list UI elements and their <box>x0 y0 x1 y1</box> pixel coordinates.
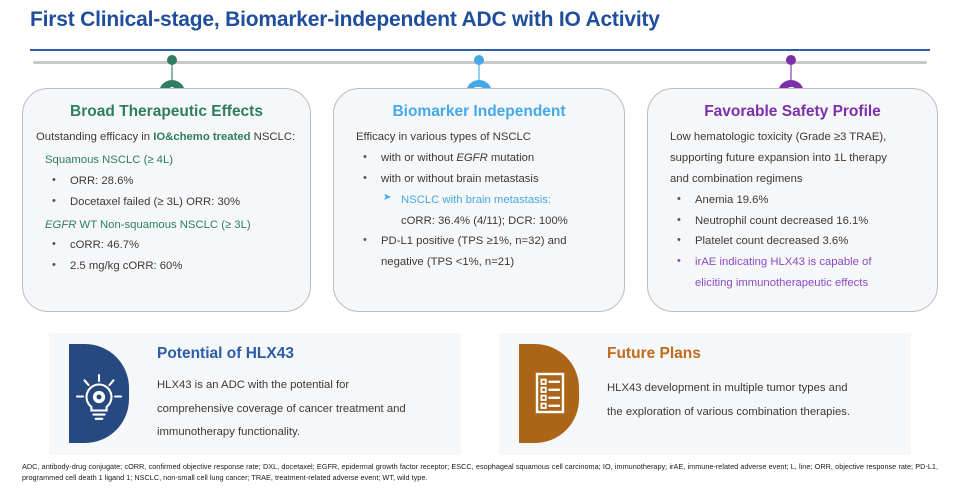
card-a-group2-head: EGFR WT Non-squamous NSCLC (≥ 3L) <box>36 215 297 236</box>
page-title: First Clinical-stage, Biomarker-independ… <box>30 8 930 32</box>
panel-1-text: HLX43 is an ADC with the potential for c… <box>157 374 447 445</box>
card-biomarker-independent[interactable]: Biomarker Independent Efficacy in variou… <box>333 88 625 312</box>
card-b-list2: •PD-L1 positive (TPS ≥1%, n=32) and <box>347 231 611 252</box>
card-a-group1-list: •ORR: 28.6% •Docetaxel failed (≥ 3L) ORR… <box>36 171 297 213</box>
bullet-dot-icon: • <box>52 191 56 211</box>
lightbulb-gear-glyph <box>69 344 129 443</box>
card-a-group1-head: Squamous NSCLC (≥ 4L) <box>36 150 297 171</box>
list-item: •irAE indicating HLX43 is capable of <box>661 252 924 273</box>
card-a-body: Outstanding efficacy in IO&chemo treated… <box>23 127 310 277</box>
arrow-bullet-icon: ➤ <box>383 189 391 208</box>
bullet-dot-icon: • <box>363 230 367 250</box>
gear-hole-icon <box>97 395 102 400</box>
bullet-dot-icon: • <box>363 147 367 167</box>
card-a-group2-head-rest: WT Non-squamous NSCLC (≥ 3L) <box>76 219 250 231</box>
panel-2-title: Future Plans <box>607 345 701 363</box>
panel-future-plans[interactable]: Future Plans HLX43 development in multip… <box>499 333 911 455</box>
card-c-highlight-l1: irAE indicating HLX43 is capable of <box>695 256 871 268</box>
card-a-lead-post: NSCLC: <box>251 131 296 143</box>
card-c-title: Favorable Safety Profile <box>648 103 937 121</box>
card-b-b1-pre: with or without <box>381 152 456 164</box>
card-a-lead-pre: Outstanding efficacy in <box>36 131 153 143</box>
card-c-b1: Neutrophil count decreased 16.1% <box>695 215 868 227</box>
card-a-g2-b1: 2.5 mg/kg cORR: 60% <box>70 260 182 272</box>
card-b-list: •with or without EGFR mutation •with or … <box>347 148 611 190</box>
panel-2-text: HLX43 development in multiple tumor type… <box>607 377 897 424</box>
card-a-group2-list: •cORR: 46.7% •2.5 mg/kg cORR: 60% <box>36 235 297 277</box>
card-c-b2: Platelet count decreased 3.6% <box>695 235 848 247</box>
card-b-arrow-detail: cORR: 36.4% (4/11); DCR: 100% <box>347 211 611 232</box>
list-item: •ORR: 28.6% <box>36 171 297 192</box>
card-b-sublist: ➤NSCLC with brain metastasis: <box>347 190 611 211</box>
card-favorable-safety-profile[interactable]: Favorable Safety Profile Low hematologic… <box>647 88 938 312</box>
panel-2-text-l1: HLX43 development in multiple tumor type… <box>607 377 897 401</box>
card-b-title: Biomarker Independent <box>334 103 624 121</box>
card-b-arrow-label: NSCLC with brain metastasis: <box>401 194 551 206</box>
list-item: •cORR: 46.7% <box>36 235 297 256</box>
card-b-b3-l2: negative (TPS <1%, n=21) <box>347 252 611 273</box>
lightbulb-gear-icon <box>69 344 129 443</box>
bullet-dot-icon: • <box>52 255 56 275</box>
card-a-g1-b0: ORR: 28.6% <box>70 175 133 187</box>
list-item: •with or without EGFR mutation <box>347 148 611 169</box>
bullet-dot-icon: • <box>363 168 367 188</box>
panel-2-text-l2: the exploration of various combination t… <box>607 401 897 425</box>
panel-1-text-l2: comprehensive coverage of cancer treatme… <box>157 398 447 422</box>
bullet-dot-icon: • <box>677 210 681 230</box>
card-b-b1-ital: EGFR <box>456 152 487 164</box>
card-a-title: Broad Therapeutic Effects <box>23 103 310 121</box>
card-a-g1-b1: Docetaxel failed (≥ 3L) ORR: 30% <box>70 196 240 208</box>
panel-1-text-l3: immunotherapy functionality. <box>157 421 447 445</box>
card-b-b1-post: mutation <box>488 152 534 164</box>
checklist-document-glyph <box>519 344 579 443</box>
card-b-lead: Efficacy in various types of NSCLC <box>347 127 611 148</box>
card-a-lead-bold: IO&chemo treated <box>153 131 250 143</box>
card-b-b3-l1: PD-L1 positive (TPS ≥1%, n=32) and <box>381 235 566 247</box>
card-c-b0: Anemia 19.6% <box>695 194 768 206</box>
card-c-lead-l3: and combination regimens <box>661 169 924 190</box>
list-item: •Neutrophil count decreased 16.1% <box>661 211 924 232</box>
card-b-body: Efficacy in various types of NSCLC •with… <box>334 127 624 273</box>
card-c-highlight-l2: eliciting immunotherapeutic effects <box>661 273 924 294</box>
list-item: •PD-L1 positive (TPS ≥1%, n=32) and <box>347 231 611 252</box>
title-divider <box>30 49 930 51</box>
card-broad-therapeutic-effects[interactable]: Broad Therapeutic Effects Outstanding ef… <box>22 88 311 312</box>
bullet-dot-icon: • <box>677 230 681 250</box>
card-c-body: Low hematologic toxicity (Grade ≥3 TRAE)… <box>648 127 937 294</box>
panel-1-text-l1: HLX43 is an ADC with the potential for <box>157 374 447 398</box>
bullet-dot-icon: • <box>52 234 56 254</box>
card-a-lead: Outstanding efficacy in IO&chemo treated… <box>36 127 297 148</box>
footnote-abbreviations: ADC, antibody-drug conjugate; cORR, conf… <box>22 461 938 484</box>
card-c-lead-l2: supporting future expansion into 1L ther… <box>661 148 924 169</box>
list-item: •Docetaxel failed (≥ 3L) ORR: 30% <box>36 192 297 213</box>
list-item: •with or without brain metastasis <box>347 169 611 190</box>
panel-1-title: Potential of HLX43 <box>157 345 294 363</box>
card-b-b2: with or without brain metastasis <box>381 173 539 185</box>
list-item: •Anemia 19.6% <box>661 190 924 211</box>
bullet-dot-icon: • <box>677 189 681 209</box>
bullet-dot-icon: • <box>677 251 681 271</box>
bullet-dot-icon: • <box>52 170 56 190</box>
slide-root: First Clinical-stage, Biomarker-independ… <box>0 0 960 498</box>
card-c-list: •Anemia 19.6% •Neutrophil count decrease… <box>661 190 924 274</box>
list-item: ➤NSCLC with brain metastasis: <box>347 190 611 211</box>
card-c-lead-l1: Low hematologic toxicity (Grade ≥3 TRAE)… <box>661 127 924 148</box>
list-item: •Platelet count decreased 3.6% <box>661 231 924 252</box>
card-a-g2-b0: cORR: 46.7% <box>70 239 139 251</box>
panel-potential-of-hlx43[interactable]: Potential of HLX43 HLX43 is an ADC with … <box>49 333 461 455</box>
list-item: •2.5 mg/kg cORR: 60% <box>36 256 297 277</box>
card-a-group2-head-ital: EGFR <box>45 219 76 231</box>
checklist-document-icon <box>519 344 579 443</box>
